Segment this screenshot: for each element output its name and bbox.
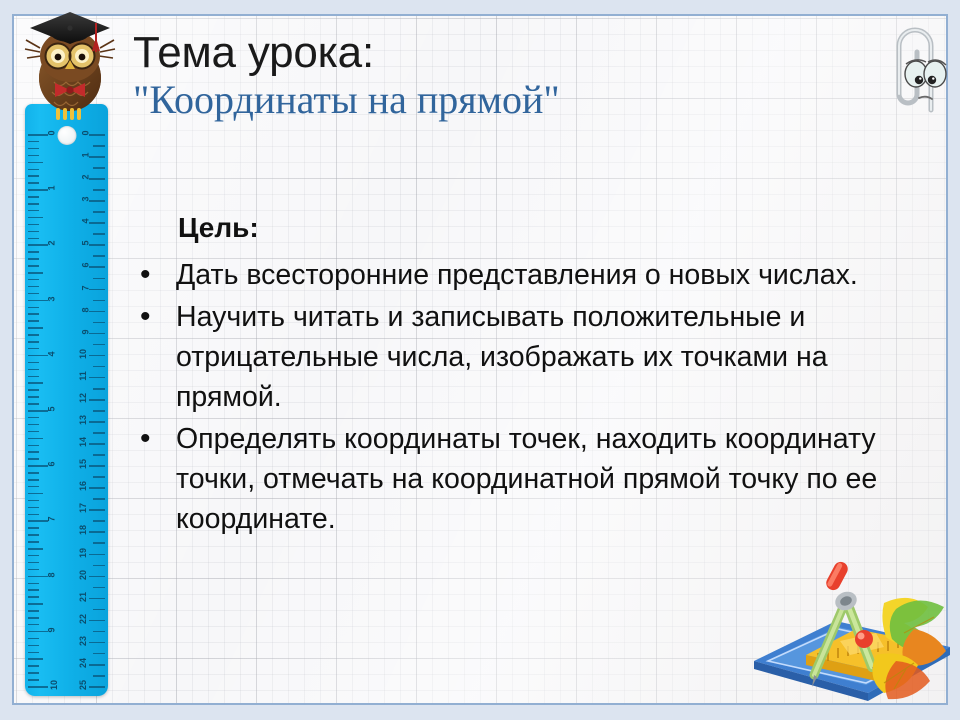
ruler-tick-label: 3	[47, 296, 57, 301]
bullet-marker-icon: •	[136, 255, 176, 295]
ruler-minor-tick	[28, 596, 39, 598]
owl-graduate-icon	[18, 4, 122, 122]
ruler-minor-tick	[28, 376, 39, 378]
ruler-minor-tick	[28, 589, 39, 591]
ruler-minor-tick	[28, 272, 43, 274]
ruler-major-tick	[89, 377, 105, 379]
ruler-major-tick	[28, 410, 48, 412]
ruler-major-tick	[89, 531, 105, 533]
ruler-minor-tick	[28, 320, 39, 322]
ruler-major-tick	[89, 465, 105, 467]
ruler-major-tick	[89, 134, 105, 136]
ruler-minor-tick	[28, 279, 39, 281]
ruler-minor-tick	[28, 458, 39, 460]
ruler-tick-label: 10	[78, 349, 88, 359]
ruler-minor-tick	[93, 675, 105, 677]
list-item: • Дать всесторонние представления о новы…	[136, 255, 896, 295]
ruler-tick-label: 2	[47, 241, 57, 246]
ruler-minor-tick	[93, 145, 105, 147]
ruler-major-tick	[28, 300, 48, 302]
ruler-minor-tick	[28, 251, 39, 253]
ruler-minor-tick	[28, 196, 39, 198]
ruler-minor-tick	[28, 541, 39, 543]
ruler-minor-tick	[28, 527, 39, 529]
ruler-minor-tick	[28, 514, 39, 516]
ruler-minor-tick	[93, 255, 105, 257]
ruler-tick-label: 15	[78, 459, 88, 469]
ruler-tick-label: 1	[80, 153, 90, 158]
ruler-minor-tick	[28, 203, 39, 205]
ruler-minor-tick	[93, 609, 105, 611]
ruler-minor-tick	[93, 189, 105, 191]
ruler-minor-tick	[28, 555, 39, 557]
ruler-major-tick	[28, 631, 48, 633]
ruler-minor-tick	[28, 403, 39, 405]
ruler-tick-label: 0	[80, 130, 90, 135]
list-item-text: Научить читать и записывать положительны…	[176, 297, 896, 417]
ruler-major-tick	[89, 554, 105, 556]
ruler-minor-tick	[28, 548, 43, 550]
ruler-minor-tick	[28, 534, 39, 536]
ruler-major-tick	[89, 289, 105, 291]
ruler-minor-tick	[93, 653, 105, 655]
ruler-minor-tick	[93, 167, 105, 169]
ruler-major-tick	[89, 178, 105, 180]
ruler-minor-tick	[28, 396, 39, 398]
ruler-minor-tick	[28, 569, 39, 571]
title-main-line: Тема урока:	[133, 30, 833, 76]
ruler-minor-tick	[93, 587, 105, 589]
title-subject-line: "Координаты на прямой"	[133, 78, 833, 123]
ruler-minor-tick	[93, 498, 105, 500]
ruler-minor-tick	[28, 148, 39, 150]
ruler-major-tick	[89, 642, 105, 644]
paperclip-assistant-icon	[890, 12, 948, 118]
ruler-major-tick	[28, 576, 48, 578]
ruler-major-tick	[89, 686, 105, 688]
ruler-tick-label: 6	[47, 462, 57, 467]
ruler-tick-label: 13	[78, 415, 88, 425]
ruler-major-tick	[89, 664, 105, 666]
ruler-minor-tick	[28, 169, 39, 171]
list-item-text: Дать всесторонние представления о новых …	[176, 255, 858, 295]
blue-ruler: 012345678910 012345678910111213141516171…	[25, 104, 108, 696]
ruler-minor-tick	[28, 334, 39, 336]
ruler-minor-tick	[93, 366, 105, 368]
ruler-major-tick	[89, 222, 105, 224]
ruler-tick-label: 4	[47, 351, 57, 356]
ruler-minor-tick	[28, 624, 39, 626]
ruler-minor-tick	[93, 476, 105, 478]
ruler-major-tick	[28, 355, 48, 357]
ruler-minor-tick	[93, 211, 105, 213]
ruler-minor-tick	[28, 307, 39, 309]
ruler-minor-tick	[28, 141, 39, 143]
ruler-tick-label: 18	[78, 525, 88, 535]
ruler-tick-label: 24	[78, 658, 88, 668]
ruler-minor-tick	[28, 645, 39, 647]
ruler-major-tick	[89, 509, 105, 511]
slide-canvas: 012345678910 012345678910111213141516171…	[0, 0, 960, 720]
ruler-minor-tick	[93, 410, 105, 412]
ruler-minor-tick	[28, 231, 39, 233]
ruler-minor-tick	[28, 603, 43, 605]
ruler-major-tick	[89, 598, 105, 600]
ruler-tick-label: 12	[78, 393, 88, 403]
ruler-major-tick	[89, 620, 105, 622]
ruler-minor-tick	[28, 583, 39, 585]
ruler-minor-tick	[28, 155, 39, 157]
ruler-major-tick	[89, 487, 105, 489]
ruler-minor-tick	[28, 362, 39, 364]
ruler-minor-tick	[28, 293, 39, 295]
ruler-minor-tick	[28, 182, 39, 184]
ruler-tick-label: 14	[78, 437, 88, 447]
ruler-major-tick	[89, 421, 105, 423]
ruler-tick-label: 9	[80, 329, 90, 334]
ruler-minor-tick	[93, 542, 105, 544]
ruler-scale-inches: 012345678910	[25, 104, 66, 696]
ruler-tick-label: 20	[78, 570, 88, 580]
ruler-scale-centimeters: 0123456789101112131415161718192021222324…	[67, 104, 108, 696]
ruler-minor-tick	[93, 300, 105, 302]
ruler-tick-label: 16	[78, 481, 88, 491]
ruler-tick-label: 7	[47, 517, 57, 522]
ruler-tick-label: 25	[78, 680, 88, 690]
ruler-major-tick	[89, 311, 105, 313]
ruler-major-tick	[89, 200, 105, 202]
list-item: • Научить читать и записывать положитель…	[136, 297, 896, 417]
ruler-major-tick	[89, 355, 105, 357]
ruler-minor-tick	[93, 388, 105, 390]
ruler-tick-label: 3	[80, 197, 90, 202]
ruler-minor-tick	[28, 679, 39, 681]
ruler-tick-label: 17	[78, 503, 88, 513]
ruler-minor-tick	[28, 479, 39, 481]
ruler-minor-tick	[28, 445, 39, 447]
ruler-minor-tick	[28, 493, 43, 495]
ruler-tick-label: 6	[80, 263, 90, 268]
ruler-minor-tick	[28, 389, 39, 391]
ruler-minor-tick	[28, 348, 39, 350]
ruler-major-tick	[28, 134, 48, 136]
ruler-minor-tick	[28, 313, 39, 315]
ruler-minor-tick	[28, 217, 43, 219]
ruler-tick-label: 21	[78, 592, 88, 602]
ruler-minor-tick	[28, 424, 39, 426]
ruler-minor-tick	[28, 652, 39, 654]
ruler-minor-tick	[93, 520, 105, 522]
ruler-tick-label: 10	[49, 680, 59, 690]
ruler-minor-tick	[28, 175, 39, 177]
ruler-major-tick	[28, 686, 48, 688]
page-title: Тема урока: "Координаты на прямой"	[133, 30, 833, 123]
ruler-minor-tick	[28, 451, 39, 453]
ruler-tick-label: 0	[47, 130, 57, 135]
ruler-minor-tick	[28, 672, 39, 674]
ruler-minor-tick	[93, 454, 105, 456]
ruler-minor-tick	[28, 341, 39, 343]
bullet-marker-icon: •	[136, 297, 176, 337]
ruler-minor-tick	[28, 210, 39, 212]
ruler-minor-tick	[93, 233, 105, 235]
ruler-minor-tick	[93, 432, 105, 434]
ruler-tick-label: 4	[80, 219, 90, 224]
ruler-tick-label: 8	[47, 572, 57, 577]
ruler-minor-tick	[28, 610, 39, 612]
ruler-minor-tick	[28, 431, 39, 433]
ruler-tick-label: 7	[80, 285, 90, 290]
ruler-major-tick	[28, 189, 48, 191]
ruler-minor-tick	[28, 224, 39, 226]
ruler-minor-tick	[28, 162, 43, 164]
ruler-minor-tick	[28, 617, 39, 619]
ruler-minor-tick	[28, 417, 39, 419]
ruler-major-tick	[89, 266, 105, 268]
ruler-major-tick	[28, 465, 48, 467]
ruler-minor-tick	[28, 658, 43, 660]
ruler-minor-tick	[28, 438, 43, 440]
ruler-major-tick	[89, 333, 105, 335]
ruler-tick-label: 2	[80, 175, 90, 180]
ruler-tick-label: 8	[80, 307, 90, 312]
ruler-tick-label: 22	[78, 614, 88, 624]
ruler-minor-tick	[28, 382, 43, 384]
list-item-text: Определять координаты точек, находить ко…	[176, 419, 896, 539]
ruler-minor-tick	[93, 344, 105, 346]
ruler-minor-tick	[28, 369, 39, 371]
ruler-tick-label: 11	[78, 371, 88, 381]
ruler-minor-tick	[28, 258, 39, 260]
ruler-tick-label: 5	[47, 406, 57, 411]
ruler-major-tick	[89, 156, 105, 158]
ruler-tick-label: 19	[78, 548, 88, 558]
goal-heading: Цель:	[178, 212, 259, 244]
bullet-marker-icon: •	[136, 419, 176, 459]
ruler-major-tick	[28, 244, 48, 246]
ruler-minor-tick	[93, 322, 105, 324]
ruler-major-tick	[89, 443, 105, 445]
ruler-minor-tick	[28, 238, 39, 240]
ruler-major-tick	[89, 244, 105, 246]
ruler-minor-tick	[28, 265, 39, 267]
ruler-tick-label: 5	[80, 241, 90, 246]
compass-ruler-book-leaves-icon	[744, 543, 954, 708]
ruler-minor-tick	[28, 486, 39, 488]
ruler-minor-tick	[28, 327, 43, 329]
ruler-minor-tick	[28, 665, 39, 667]
ruler-minor-tick	[28, 500, 39, 502]
ruler-major-tick	[89, 576, 105, 578]
ruler-minor-tick	[93, 631, 105, 633]
ruler-minor-tick	[93, 565, 105, 567]
ruler-tick-label: 9	[47, 627, 57, 632]
ruler-minor-tick	[28, 562, 39, 564]
ruler-tick-label: 23	[78, 636, 88, 646]
goal-bullet-list: • Дать всесторонние представления о новы…	[136, 255, 896, 541]
ruler-major-tick	[89, 399, 105, 401]
ruler-tick-label: 1	[47, 186, 57, 191]
ruler-minor-tick	[28, 638, 39, 640]
ruler-minor-tick	[28, 472, 39, 474]
ruler-minor-tick	[28, 507, 39, 509]
ruler-major-tick	[28, 520, 48, 522]
ruler-minor-tick	[28, 286, 39, 288]
list-item: • Определять координаты точек, находить …	[136, 419, 896, 539]
ruler-minor-tick	[93, 278, 105, 280]
